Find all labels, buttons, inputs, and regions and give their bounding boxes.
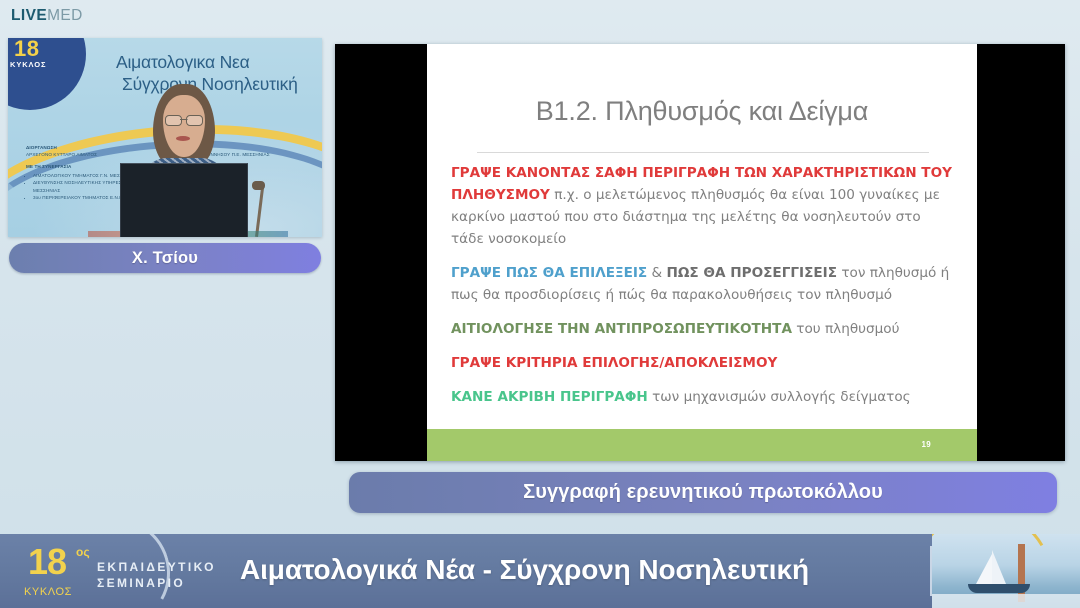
backdrop-organizer-name: ΑΡΧΕΓΟΝΟ ΚΥΤΤΑΡΟ ΑΙΜΑΤΟΣ <box>26 152 97 157</box>
slide-text-run: ΚΑΝΕ ΑΚΡΙΒΗ ΠΕΡΙΓΡΑΦΗ <box>451 389 648 405</box>
session-title-badge: Συγγραφή ερευνητικού πρωτοκόλλου <box>349 472 1057 513</box>
slide-text-run: των μηχανισμών συλλογής δείγματος <box>648 389 911 405</box>
slide-title: Β1.2. Πληθυσμός και Δείγμα <box>427 96 977 127</box>
slide-text-run: ΑΙΤΙΟΛΟΓΗΣΕ ΤΗΝ ΑΝΤΙΠΡΟΣΩΠΕΥΤΙΚΟΤΗΤΑ <box>451 321 792 337</box>
banner-subtitle-line2: ΣΕΜΙΝΑΡΙΟ <box>97 575 216 591</box>
artwork-shore <box>932 594 1080 608</box>
presentation-slide: Β1.2. Πληθυσμός και Δείγμα ΓΡΑΨΕ ΚΑΝΟΝΤΑ… <box>427 44 977 461</box>
slide-paragraph: ΚΑΝΕ ΑΚΡΙΒΗ ΠΕΡΙΓΡΑΦΗ των μηχανισμών συλ… <box>451 386 957 408</box>
banner-cycle-word: ΚΥΚΛΟΣ <box>24 586 72 598</box>
slide-text-run: του πληθυσμού <box>792 321 899 337</box>
presenter-glasses <box>165 115 203 124</box>
backdrop-organizer-heading: ΔΙΟΡΓΑΝΩΣΗ <box>26 144 158 151</box>
backdrop-title-line1: Αιματολογικα Νεα <box>116 52 250 72</box>
backdrop-cycle-number: 18 <box>14 38 39 62</box>
banner-subtitle-line1: ΕΚΠΑΙΔΕΥΤΙΚΟ <box>97 559 216 575</box>
video-frame: 18 ΚΥΚΛΟΣ Αιματολογικα Νεα Σύγχρονη Νοση… <box>8 38 322 237</box>
slide-text-run: & <box>647 265 666 281</box>
laptop-screen <box>120 163 248 237</box>
slide-title-divider <box>477 152 929 153</box>
speaker-name-label: Χ. Τσίου <box>132 249 198 268</box>
banner-sailboat-artwork <box>932 534 1080 608</box>
slide-footer-band: 19 <box>427 429 977 461</box>
artwork-sail-back <box>992 550 1006 584</box>
backdrop-cycle-word: ΚΥΚΛΟΣ <box>10 60 46 69</box>
slide-paragraph: ΓΡΑΨΕ ΚΑΝΟΝΤΑΣ ΣΑΦΗ ΠΕΡΙΓΡΑΦΗ ΤΩΝ ΧΑΡΑΚΤ… <box>451 162 957 250</box>
brand-primary-text: LIVE <box>11 7 47 24</box>
event-banner: 18 ος ΚΥΚΛΟΣ ΕΚΠΑΙΔΕΥΤΙΚΟ ΣΕΜΙΝΑΡΙΟ Αιμα… <box>0 534 1080 608</box>
slide-page-number: 19 <box>922 440 932 449</box>
banner-cycle-ordinal: ος <box>76 545 90 559</box>
artwork-sail-front <box>976 554 992 584</box>
banner-cycle-number: 18 <box>28 544 66 580</box>
slide-paragraph: ΑΙΤΙΟΛΟΓΗΣΕ ΤΗΝ ΑΝΤΙΠΡΟΣΩΠΕΥΤΙΚΟΤΗΤΑ του… <box>451 318 957 340</box>
slide-paragraph: ΓΡΑΨΕ ΚΡΙΤΗΡΙΑ ΕΠΙΛΟΓΗΣ/ΑΠΟΚΛΕΙΣΜΟΥ <box>451 352 957 374</box>
microphone-head <box>252 181 265 190</box>
speaker-video-panel[interactable]: 18 ΚΥΚΛΟΣ Αιματολογικα Νεα Σύγχρονη Νοση… <box>8 38 322 237</box>
slide-body: ΓΡΑΨΕ ΚΑΝΟΝΤΑΣ ΣΑΦΗ ΠΕΡΙΓΡΑΦΗ ΤΩΝ ΧΑΡΑΚΤ… <box>451 162 957 408</box>
presenter-mouth <box>176 136 190 141</box>
banner-title: Αιματολογικά Νέα - Σύγχρονη Νοσηλευτική <box>240 554 809 586</box>
livemed-logo[interactable]: LIVEMED <box>11 8 83 24</box>
brand-secondary-text: MED <box>47 7 83 24</box>
slide-paragraph: ΓΡΑΨΕ ΠΩΣ ΘΑ ΕΠΙΛΕΞΕΙΣ & ΠΩΣ ΘΑ ΠΡΟΣΕΓΓΙ… <box>451 262 957 306</box>
artwork-hull <box>968 584 1030 593</box>
speaker-name-badge: Χ. Τσίου <box>9 243 321 273</box>
slide-text-run: ΓΡΑΨΕ ΠΩΣ ΘΑ ΕΠΙΛΕΞΕΙΣ <box>451 265 647 281</box>
slide-stage[interactable]: Β1.2. Πληθυσμός και Δείγμα ΓΡΑΨΕ ΚΑΝΟΝΤΑ… <box>335 44 1065 461</box>
slide-text-run: ΓΡΑΨΕ ΚΡΙΤΗΡΙΑ ΕΠΙΛΟΓΗΣ/ΑΠΟΚΛΕΙΣΜΟΥ <box>451 355 777 371</box>
webinar-player-page: LIVEMED 18 ΚΥΚΛΟΣ Αιματολογικα Νεα Σύγχρ… <box>0 0 1080 608</box>
banner-subtitle: ΕΚΠΑΙΔΕΥΤΙΚΟ ΣΕΜΙΝΑΡΙΟ <box>97 559 216 591</box>
slide-text-run: ΠΩΣ ΘΑ ΠΡΟΣΕΓΓΙΣΕΙΣ <box>666 265 837 281</box>
session-title-label: Συγγραφή ερευνητικού πρωτοκόλλου <box>523 481 883 504</box>
